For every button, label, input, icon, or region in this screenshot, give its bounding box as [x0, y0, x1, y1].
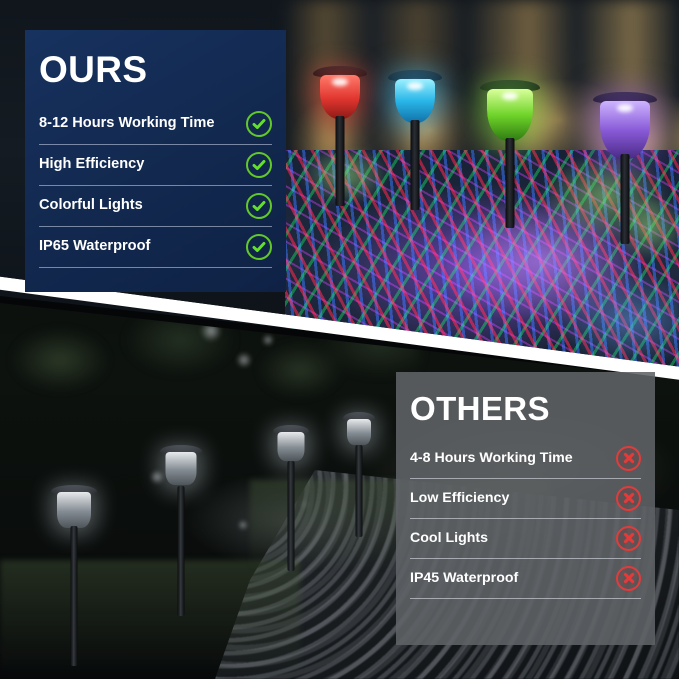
lamp-glass	[57, 492, 91, 528]
others-feature-row: Low Efficiency	[410, 479, 641, 519]
ours-feature-list: 8-12 Hours Working Time High Efficiency	[39, 104, 272, 268]
lamp-pole	[621, 154, 630, 244]
solar-lamp-purple	[590, 92, 660, 262]
others-comparison-card: OTHERS 4-8 Hours Working Time Low Effici…	[396, 372, 655, 645]
x-icon	[616, 526, 641, 551]
others-feature-label: IP45 Waterproof	[410, 570, 518, 586]
lamp-pole	[506, 138, 515, 228]
white-solar-lamp-1	[46, 485, 102, 665]
others-feature-list: 4-8 Hours Working Time Low Efficiency	[410, 439, 641, 599]
others-title: OTHERS	[410, 392, 655, 425]
others-feature-label: Low Efficiency	[410, 490, 509, 506]
ours-feature-row: Colorful Lights	[39, 186, 272, 227]
lamp-led-spark	[617, 104, 633, 112]
lamp-led-spark	[502, 92, 518, 100]
white-solar-lamp-3	[268, 425, 314, 575]
lamp-pole	[356, 445, 363, 537]
lamp-pole	[411, 120, 420, 210]
lamp-led-spark	[332, 78, 348, 86]
lamp-glass	[166, 452, 197, 485]
check-icon	[246, 193, 272, 219]
ours-feature-row: 8-12 Hours Working Time	[39, 104, 272, 145]
ours-feature-row: IP65 Waterproof	[39, 227, 272, 268]
check-icon	[246, 152, 272, 178]
bokeh-light	[238, 520, 248, 530]
bokeh-light	[262, 334, 274, 346]
bokeh-light	[200, 320, 222, 342]
solar-lamp-green	[478, 80, 542, 240]
x-icon	[616, 566, 641, 591]
others-feature-row: 4-8 Hours Working Time	[410, 439, 641, 479]
ours-feature-label: High Efficiency	[39, 156, 144, 173]
check-icon	[246, 111, 272, 137]
lamp-pole	[288, 461, 295, 571]
ours-feature-label: IP65 Waterproof	[39, 238, 150, 255]
product-comparison-image: OURS 8-12 Hours Working Time High Effici…	[0, 0, 679, 679]
lamp-pole	[178, 486, 185, 616]
others-feature-label: Cool Lights	[410, 530, 488, 546]
lamp-pole	[336, 116, 345, 206]
others-feature-label: 4-8 Hours Working Time	[410, 450, 573, 466]
ours-title: OURS	[39, 51, 286, 88]
lamp-glass	[278, 432, 305, 461]
x-icon	[616, 486, 641, 511]
white-solar-lamp-2	[155, 445, 207, 615]
lamp-glass	[347, 419, 371, 445]
others-feature-row: IP45 Waterproof	[410, 559, 641, 599]
lamp-pole	[71, 526, 78, 666]
solar-lamp-cyan	[385, 70, 445, 220]
bokeh-light	[236, 352, 252, 368]
ours-feature-row: High Efficiency	[39, 145, 272, 186]
ours-comparison-card: OURS 8-12 Hours Working Time High Effici…	[25, 30, 286, 292]
check-icon	[246, 234, 272, 260]
lamp-led-spark	[407, 82, 423, 90]
x-icon	[616, 446, 641, 471]
white-solar-lamp-4	[338, 412, 380, 542]
grass-foreground	[0, 560, 300, 679]
solar-lamp-red	[310, 66, 370, 216]
others-feature-row: Cool Lights	[410, 519, 641, 559]
ours-feature-label: 8-12 Hours Working Time	[39, 115, 214, 132]
ours-feature-label: Colorful Lights	[39, 197, 143, 214]
